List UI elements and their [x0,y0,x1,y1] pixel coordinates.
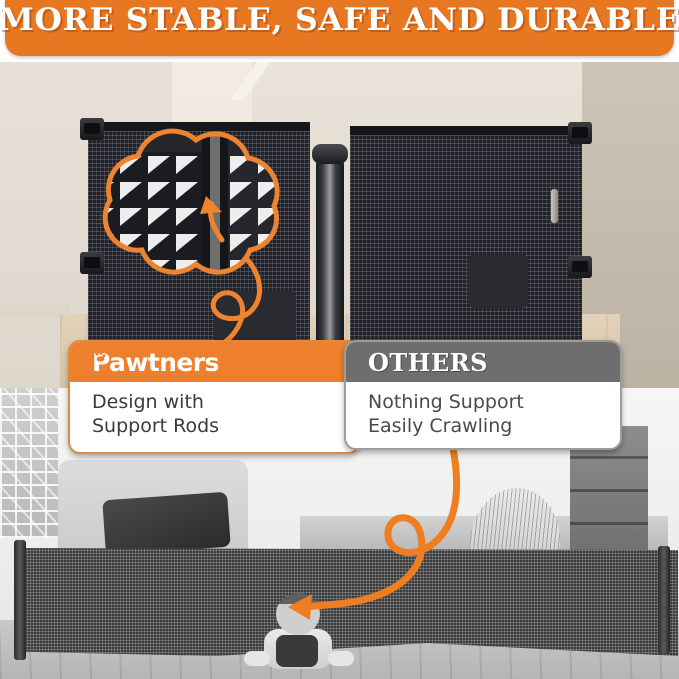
comparison-card-ours[interactable]: Pawtners Design with Support Rods [68,340,360,454]
card-body-ours: Design with Support Rods [70,382,358,439]
wall-bracket-bottom-left [80,252,104,274]
window-lattice [0,388,58,538]
others-label: OTHERS [368,348,488,377]
rod-body [316,158,344,370]
card-header-others: OTHERS [346,342,620,382]
sagging-gate-mesh [18,548,678,656]
gate-post-right [658,546,670,654]
comparison-card-others[interactable]: OTHERS Nothing Support Easily Crawling [344,340,622,450]
card-header-ours: Pawtners [70,342,358,382]
brand-logo-pawtners: Pawtners [92,348,219,377]
ours-line-2: Support Rods [92,414,358,438]
infographic-page: Pawtners Design with Support Rods OTHERS… [0,0,679,679]
gate-post-left [14,540,26,660]
wall-bracket-top-left [80,118,104,140]
card-body-others: Nothing Support Easily Crawling [346,382,620,439]
wall-bracket-bottom-right [568,256,592,278]
gate-panel-left [88,122,310,360]
rod-cap [312,144,348,164]
paw-icon [94,351,106,363]
gate-flap-right [468,254,528,308]
baby-overalls [276,635,318,667]
page-title: MORE STABLE, SAFE AND DURABLE [0,2,679,38]
panel-edge-top [88,122,310,131]
others-line-1: Nothing Support [368,390,620,414]
others-line-2: Easily Crawling [368,414,620,438]
wall-bracket-top-right [568,122,592,144]
cushion [102,492,231,556]
baby-arm-right [328,651,354,666]
gate-panel-right [350,126,582,360]
header-banner: MORE STABLE, SAFE AND DURABLE [5,0,674,56]
ours-line-1: Design with [92,390,358,414]
gate-pull-handle [551,189,558,223]
crawling-baby [250,593,346,671]
panel-edge-top [350,126,582,135]
baby-head [276,593,320,635]
header-banner-area: MORE STABLE, SAFE AND DURABLE [0,0,679,62]
baby-arm-left [244,651,270,666]
